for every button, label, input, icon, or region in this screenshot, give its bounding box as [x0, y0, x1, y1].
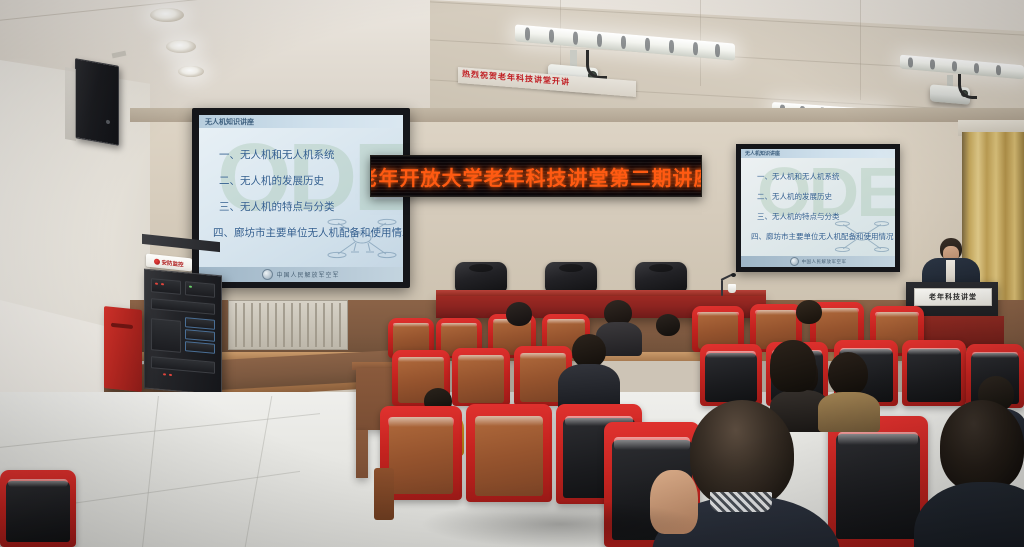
rack-unit[interactable]: [185, 281, 215, 298]
auditorium-seat[interactable]: [452, 348, 510, 406]
slide-line: 四、廊坊市主要单位无人机配备和使用情况: [751, 231, 894, 242]
projection-screen-left: 无人机知识讲座 ODE 一、无人机和无人机系统 二、无人机的发展历史 三、无人机…: [199, 115, 403, 282]
projector-cable: [586, 50, 607, 79]
speaker-shirt: [946, 260, 955, 282]
collar-pattern: [710, 492, 772, 512]
ceiling-panel-line: [860, 0, 861, 100]
ceiling-downlight: [166, 40, 196, 53]
av-rack-badge-text: 安防监控: [161, 258, 183, 268]
rack-unit[interactable]: [185, 341, 215, 354]
led-banner-text: 老年开放大学老年科技讲堂第二期讲座: [370, 162, 702, 191]
safety-logo-icon: [154, 258, 160, 265]
slide-footer-bar: 中国人民解放军空军: [199, 267, 403, 282]
auditorium-seat[interactable]: [466, 404, 552, 502]
slide-line: 三、无人机的特点与分类: [219, 199, 335, 214]
slide-line: 二、无人机的发展历史: [757, 191, 832, 202]
lecture-hall-scene: 热烈祝贺老年科技讲堂开讲 无人机知识讲座 ODE 一: [0, 0, 1024, 547]
floor-shadow: [420, 500, 700, 547]
seat-armrest: [374, 468, 394, 520]
rack-unit[interactable]: [151, 356, 215, 374]
ceiling-downlight: [150, 8, 184, 22]
organization-logo-icon: [790, 257, 799, 266]
speaker-side: [65, 67, 76, 141]
av-equipment-rack[interactable]: [144, 269, 222, 396]
rack-unit[interactable]: [185, 329, 215, 342]
rack-unit[interactable]: [151, 278, 181, 295]
slide-line: 一、无人机和无人机系统: [757, 171, 840, 182]
auditorium-seat[interactable]: [700, 344, 762, 406]
podium-sign: 老年科技讲堂: [914, 288, 992, 306]
slide-line: 二、无人机的发展历史: [219, 173, 324, 188]
auditorium-seat[interactable]: [828, 416, 928, 547]
slide-footer-text: 中国人民解放军空军: [802, 259, 847, 265]
slide-footer-bar: 中国人民解放军空军: [741, 256, 895, 267]
podium-sign-text: 老年科技讲堂: [929, 292, 977, 302]
auditorium-seat[interactable]: [902, 340, 966, 406]
rack-unit[interactable]: [151, 298, 215, 315]
organization-logo-icon: [262, 269, 273, 280]
fire-equipment-box[interactable]: [104, 306, 142, 392]
auditorium-seat[interactable]: [0, 470, 76, 547]
rack-unit[interactable]: [185, 317, 215, 330]
slide-line: 三、无人机的特点与分类: [757, 211, 840, 222]
projection-screen-right: 无人机知识讲座 ODE 一、无人机和无人机系统 二、无人机的发展历史 三、无人机…: [741, 149, 895, 267]
rack-unit[interactable]: [151, 318, 181, 353]
led-banner: 老年开放大学老年科技讲堂第二期讲座: [370, 155, 702, 197]
wall-mounted-speaker: [75, 58, 119, 146]
ceiling-downlight: [178, 66, 204, 77]
slide-footer-text: 中国人民解放军空军: [276, 270, 339, 279]
radiator-cover: [228, 300, 348, 350]
water-cup: [728, 284, 736, 293]
slide-line: 四、廊坊市主要单位无人机配备和使用情况: [213, 225, 403, 240]
slide-line: 一、无人机和无人机系统: [219, 147, 335, 162]
side-desk-leg: [356, 430, 368, 478]
